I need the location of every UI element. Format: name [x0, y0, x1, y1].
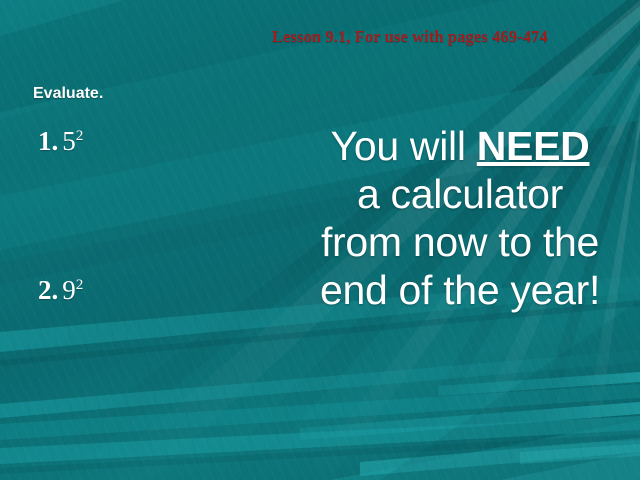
problem-1-base: 5	[62, 126, 76, 156]
problem-2-number: 2.	[38, 275, 62, 305]
practice-problems-column: Evaluate.	[33, 84, 248, 104]
problem-item-1: 1.52	[38, 126, 83, 156]
problem-1-number: 1.	[38, 126, 62, 156]
message-line-2: a calculator	[292, 170, 628, 218]
slide-canvas: Lesson 9.1, For use with pages 469-474 E…	[0, 0, 640, 480]
problem-item-2: 2.92	[38, 275, 83, 305]
message-line-3: from now to the	[292, 218, 628, 266]
problem-2-exponent: 2	[76, 277, 84, 293]
problem-1-exponent: 2	[76, 128, 84, 144]
message-line-1: You will NEED	[292, 122, 628, 170]
main-message: You will NEED a calculator from now to t…	[292, 122, 628, 314]
problem-2-base: 9	[62, 275, 76, 305]
message-line-1-text: You will	[331, 123, 477, 169]
message-line-1-emphasis: NEED	[477, 123, 590, 169]
lesson-header: Lesson 9.1, For use with pages 469-474	[272, 27, 632, 47]
message-line-4: end of the year!	[292, 266, 628, 314]
evaluate-instruction: Evaluate.	[33, 84, 248, 104]
